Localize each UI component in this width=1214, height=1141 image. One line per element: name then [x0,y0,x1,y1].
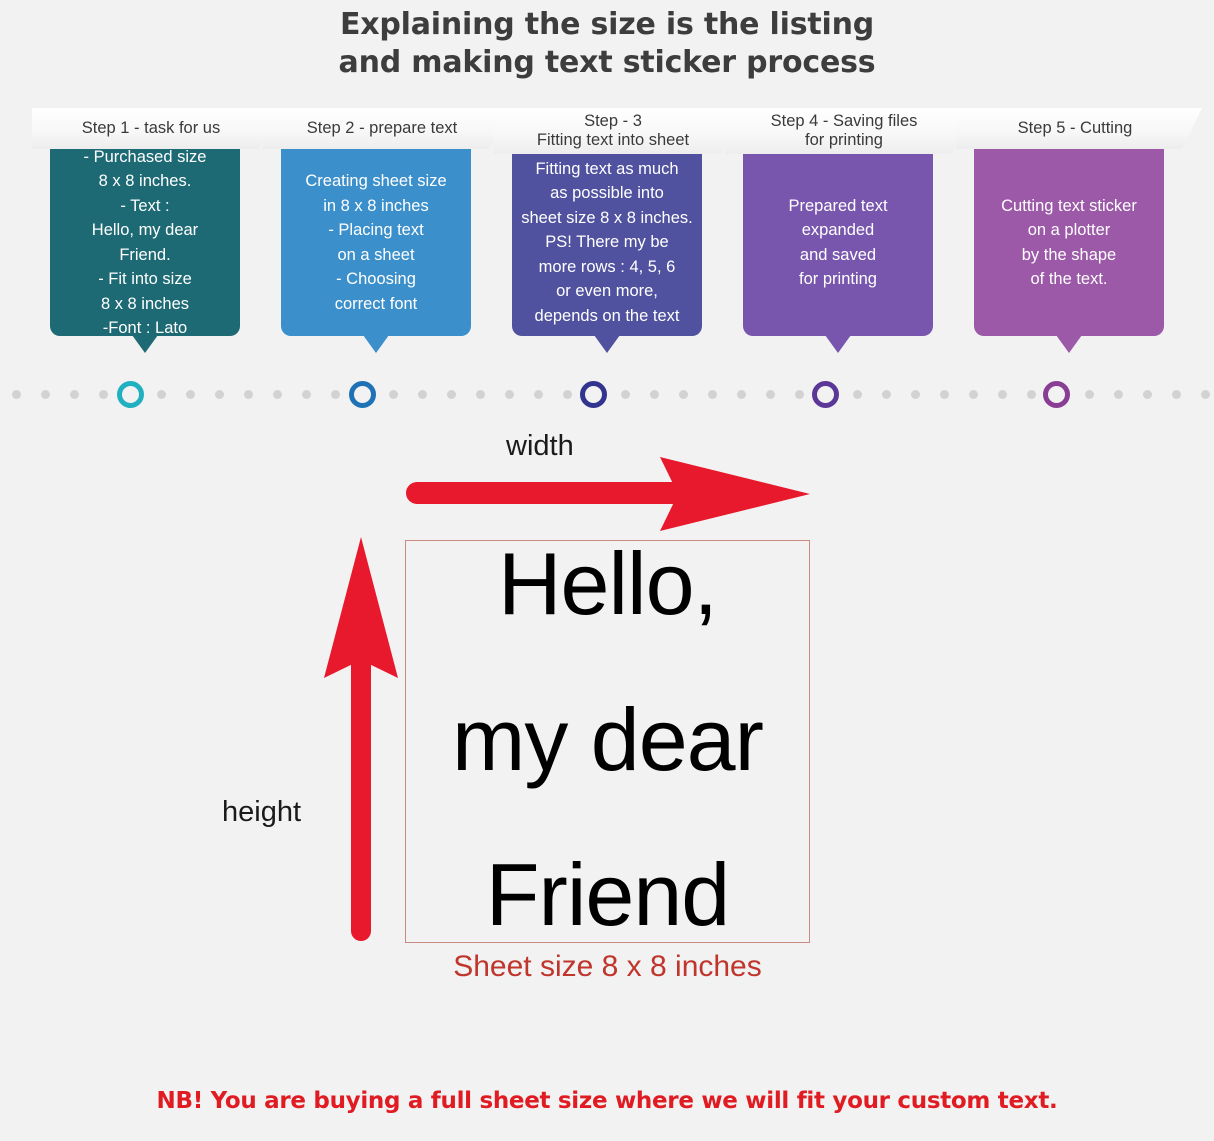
step-body-line: - Placing text [305,218,446,243]
step-body-line: of the text. [1001,267,1137,292]
timeline-dot [215,390,224,399]
timeline-dot [679,390,688,399]
steps-row: - Purchased size8 x 8 inches.- Text :Hel… [0,108,1214,368]
width-label: width [506,430,574,463]
step-pointer-3 [594,335,620,353]
timeline-dot [447,390,456,399]
step-card-4[interactable]: Prepared textexpandedand savedfor printi… [743,108,973,363]
step-body-line: - Choosing [305,267,446,292]
timeline-step-2-marker[interactable] [349,381,376,408]
timeline-dot [1172,390,1181,399]
timeline-dot [157,390,166,399]
page-title-line-1: Explaining the size is the listing [0,6,1214,44]
step-tab-1[interactable]: Step 1 - task for us [32,108,278,149]
step-tab-line: for printing [771,131,918,150]
step-body-line: Friend. [84,243,207,268]
timeline-dot [1201,390,1210,399]
step-tab-3[interactable]: Step - 3Fitting text into sheet [494,108,740,154]
step-card-5[interactable]: Cutting text stickeron a plotterby the s… [974,108,1204,363]
sheet-text-line: Friend [486,847,729,943]
step-body-5: Cutting text stickeron a plotterby the s… [974,149,1164,336]
sheet-text: Hello,my dearFriend [405,534,810,943]
page-title: Explaining the size is the listing and m… [0,6,1214,82]
timeline-dot [418,390,427,399]
step-body-line: as possible into [521,181,693,206]
timeline-dot [1114,390,1123,399]
timeline-dot [41,390,50,399]
step-pointer-5 [1056,335,1082,353]
sheet-caption: Sheet size 8 x 8 inches [405,950,810,984]
step-tab-4[interactable]: Step 4 - Saving filesfor printing [725,108,971,154]
timeline-dot [70,390,79,399]
timeline-step-4-marker[interactable] [812,381,839,408]
timeline-dot [273,390,282,399]
step-body-line: Prepared text [788,194,887,219]
timeline-dot [766,390,775,399]
step-card-2[interactable]: Creating sheet sizein 8 x 8 inches- Plac… [281,108,511,363]
timeline-dot [621,390,630,399]
timeline-dot [940,390,949,399]
step-tab-line: Step 2 - prepare text [307,119,457,138]
timeline-dot [708,390,717,399]
timeline-dot [476,390,485,399]
step-body-line: correct font [305,292,446,317]
step-tab-line: Step 1 - task for us [82,119,220,138]
timeline-dot [853,390,862,399]
step-body-line: Hello, my dear [84,218,207,243]
step-body-line: in 8 x 8 inches [305,194,446,219]
timeline-dot [650,390,659,399]
timeline-step-1-marker[interactable] [117,381,144,408]
timeline-dot [99,390,108,399]
timeline-dot [969,390,978,399]
step-body-line: - Text : [84,194,207,219]
step-tab-line: Step 4 - Saving files [771,112,918,131]
step-card-1[interactable]: - Purchased size8 x 8 inches.- Text :Hel… [50,108,280,363]
step-body-line: Creating sheet size [305,169,446,194]
timeline-dot [331,390,340,399]
height-label: height [222,796,301,829]
step-body-line: more rows : 4, 5, 6 [521,255,693,280]
step-body-line: by the shape [1001,243,1137,268]
step-tab-line: Fitting text into sheet [537,131,689,150]
timeline-dot [186,390,195,399]
step-tab-2[interactable]: Step 2 - prepare text [263,108,509,149]
timeline-dot [1085,390,1094,399]
step-tab-line: Step 5 - Cutting [1018,119,1133,138]
step-card-3[interactable]: Fitting text as muchas possible intoshee… [512,108,742,363]
width-arrow [406,457,810,531]
timeline-dot [12,390,21,399]
step-body-line: for printing [788,267,887,292]
timeline-dot [534,390,543,399]
timeline-dot [389,390,398,399]
step-pointer-2 [363,335,389,353]
timeline-dot [795,390,804,399]
step-body-3: Fitting text as muchas possible intoshee… [512,149,702,336]
timeline-dot [998,390,1007,399]
page-title-line-2: and making text sticker process [0,44,1214,82]
step-body-line: sheet size 8 x 8 inches. [521,206,693,231]
step-body-line: 8 x 8 inches [84,292,207,317]
step-body-1: - Purchased size8 x 8 inches.- Text :Hel… [50,149,240,336]
step-body-line: or even more, [521,279,693,304]
step-body-line: 8 x 8 inches. [84,169,207,194]
timeline-dot [302,390,311,399]
timeline-dot [563,390,572,399]
step-body-line: PS! There my be [521,230,693,255]
footer-note: NB! You are buying a full sheet size whe… [0,1088,1214,1114]
timeline-dot [244,390,253,399]
step-body-line: on a sheet [305,243,446,268]
timeline-dot [911,390,920,399]
process-timeline [0,377,1214,413]
step-body-line: depends on the text [521,304,693,329]
step-body-line: and saved [788,243,887,268]
step-tab-5[interactable]: Step 5 - Cutting [956,108,1202,149]
step-body-line: on a plotter [1001,218,1137,243]
step-body-line: - Fit into size [84,267,207,292]
step-body-line: Cutting text sticker [1001,194,1137,219]
sheet-text-line: Hello, [498,536,717,632]
step-body-line: Fitting text as much [521,157,693,182]
step-body-4: Prepared textexpandedand savedfor printi… [743,149,933,336]
height-arrow [324,537,398,941]
timeline-dot [882,390,891,399]
step-pointer-1 [132,335,158,353]
step-pointer-4 [825,335,851,353]
timeline-dot [737,390,746,399]
step-body-line: expanded [788,218,887,243]
step-body-2: Creating sheet sizein 8 x 8 inches- Plac… [281,149,471,336]
timeline-step-3-marker[interactable] [580,381,607,408]
timeline-dot [1027,390,1036,399]
timeline-dot [1143,390,1152,399]
timeline-dot [505,390,514,399]
step-tab-line: Step - 3 [537,112,689,131]
sheet-text-line: my dear [452,692,763,788]
timeline-step-5-marker[interactable] [1043,381,1070,408]
